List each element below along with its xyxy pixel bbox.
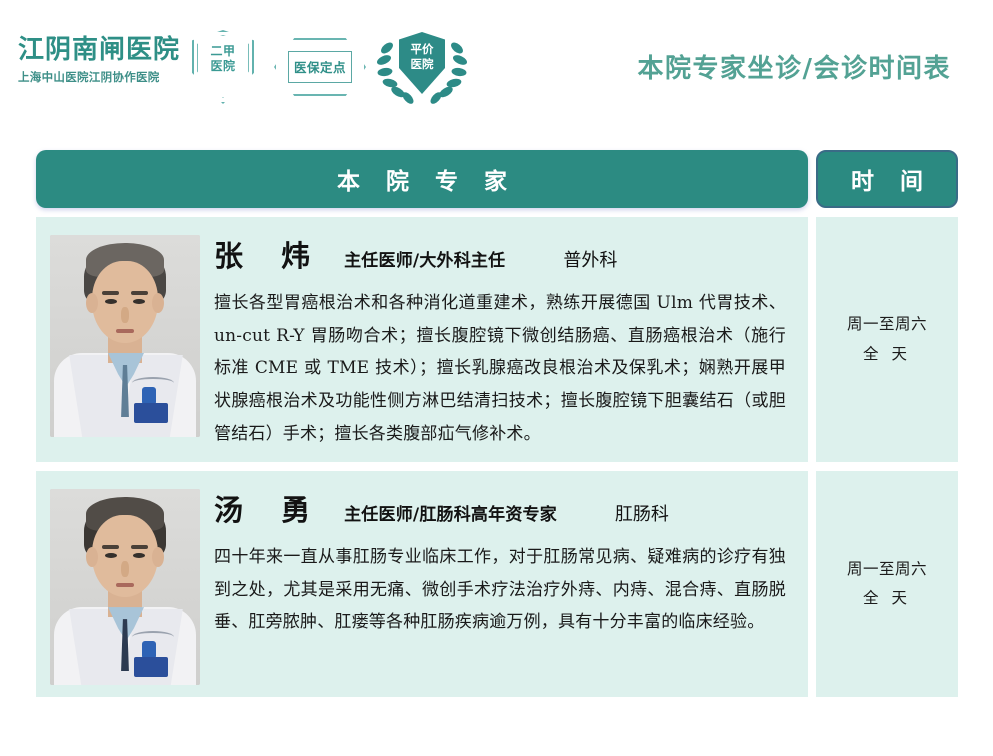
- doctor-name-line: 汤 勇 主任医师/肛肠科高年资专家 肛肠科: [214, 487, 786, 529]
- laurel-badge-line1: 平价: [411, 42, 434, 56]
- column-header-experts: 本 院 专 家: [36, 150, 808, 208]
- column-header-experts-label: 本 院 专 家: [328, 162, 516, 196]
- doctor-description: 四十年来一直从事肛肠专业临床工作，对于肛肠常见病、疑难病的诊疗有独到之处，尤其是…: [214, 541, 786, 639]
- shield-badge-line2: 医院: [210, 59, 235, 73]
- table-header-row: 本 院 专 家 时 间: [36, 150, 958, 208]
- doctor-info: 汤 勇 主任医师/肛肠科高年资专家 肛肠科 四十年来一直从事肛肠专业临床工作，对…: [214, 487, 808, 685]
- table-row: 汤 勇 主任医师/肛肠科高年资专家 肛肠科 四十年来一直从事肛肠专业临床工作，对…: [36, 471, 958, 697]
- hospital-name: 江阴南闸医院: [18, 36, 198, 65]
- hospital-logo: 江阴南闸医院 上海中山医院江阴协作医院: [18, 36, 198, 85]
- hospital-subtitle: 上海中山医院江阴协作医院: [18, 69, 198, 85]
- page-header: 江阴南闸医院 上海中山医院江阴协作医院 二甲 医院 医保定点: [0, 0, 993, 130]
- doctor-description: 擅长各型胃癌根治术和各种消化道重建术，熟练开展德国 Ulm 代胃技术、un-cu…: [214, 287, 786, 450]
- doctor-photo-container: [36, 233, 214, 450]
- time-line-2: 全 天: [863, 345, 911, 363]
- doctor-department: 肛肠科: [615, 500, 669, 526]
- certification-badges: 二甲 医院 医保定点: [192, 28, 452, 110]
- time-cell: 周一至周六 全 天: [816, 217, 958, 462]
- time-value: 周一至周六 全 天: [847, 555, 927, 614]
- laurel-shield-badge: 平价 医院: [374, 28, 470, 110]
- shield-badge-text: 二甲 医院: [192, 44, 254, 74]
- doctor-title: 主任医师/肛肠科高年资专家: [344, 500, 557, 525]
- hexagon-badge: 医保定点: [274, 38, 366, 96]
- doctor-photo-zhangwei: [50, 235, 200, 437]
- laurel-badge-text: 平价 医院: [399, 42, 445, 72]
- page-title: 本院专家坐诊/会诊时间表: [638, 48, 952, 85]
- laurel-badge-line2: 医院: [411, 57, 434, 71]
- column-header-time: 时 间: [816, 150, 958, 208]
- time-cell: 周一至周六 全 天: [816, 471, 958, 697]
- hexagon-badge-text: 医保定点: [274, 57, 366, 76]
- doctor-name-line: 张 炜 主任医师/大外科主任 普外科: [214, 233, 786, 275]
- shield-outline-badge: 二甲 医院: [192, 30, 254, 104]
- doctor-name: 汤 勇: [214, 487, 324, 529]
- doctor-department: 普外科: [563, 246, 617, 272]
- expert-cell: 张 炜 主任医师/大外科主任 普外科 擅长各型胃癌根治术和各种消化道重建术，熟练…: [36, 217, 808, 462]
- schedule-table: 本 院 专 家 时 间: [36, 150, 958, 706]
- time-line-1: 周一至周六: [847, 315, 927, 333]
- doctor-name: 张 炜: [214, 233, 324, 275]
- table-body: 张 炜 主任医师/大外科主任 普外科 擅长各型胃癌根治术和各种消化道重建术，熟练…: [36, 217, 958, 697]
- shield-badge-line1: 二甲: [210, 44, 235, 58]
- doctor-info: 张 炜 主任医师/大外科主任 普外科 擅长各型胃癌根治术和各种消化道重建术，熟练…: [214, 233, 808, 450]
- doctor-title: 主任医师/大外科主任: [344, 246, 505, 271]
- time-line-2: 全 天: [863, 589, 911, 607]
- schedule-poster: 江阴南闸医院 上海中山医院江阴协作医院 二甲 医院 医保定点: [0, 0, 993, 756]
- time-line-1: 周一至周六: [847, 560, 927, 578]
- doctor-photo-tangyong: [50, 489, 200, 685]
- expert-cell: 汤 勇 主任医师/肛肠科高年资专家 肛肠科 四十年来一直从事肛肠专业临床工作，对…: [36, 471, 808, 697]
- doctor-photo-container: [36, 487, 214, 685]
- column-header-time-label: 时 间: [842, 162, 932, 196]
- table-row: 张 炜 主任医师/大外科主任 普外科 擅长各型胃癌根治术和各种消化道重建术，熟练…: [36, 217, 958, 462]
- time-value: 周一至周六 全 天: [847, 310, 927, 369]
